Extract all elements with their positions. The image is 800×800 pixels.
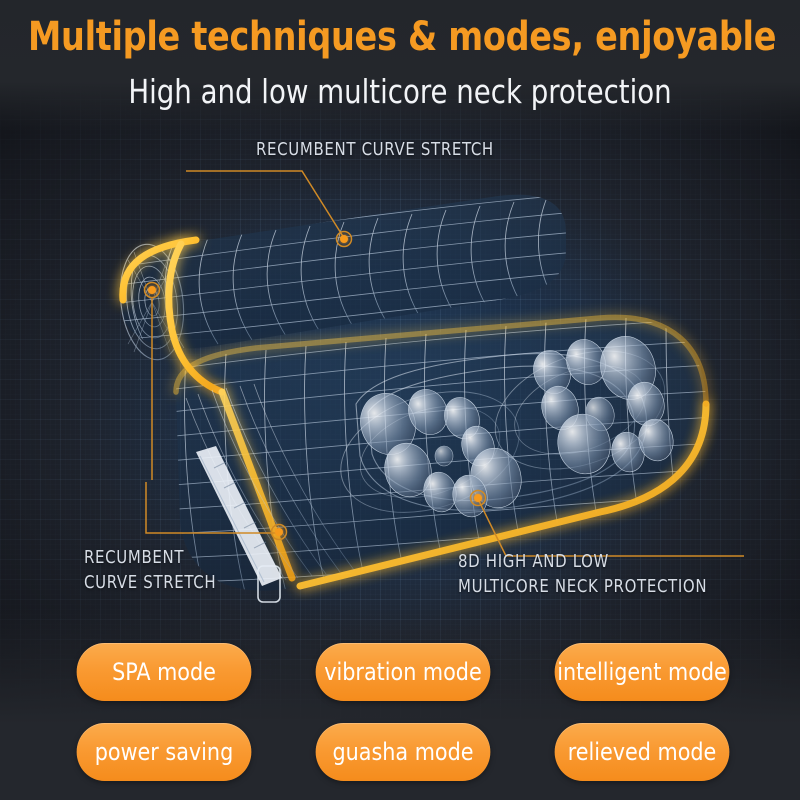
callout-label-left: RECUMBENT CURVE STRETCH — [84, 546, 216, 596]
callout-label-right: 8D HIGH AND LOW MULTICORE NECK PROTECTIO… — [458, 550, 707, 600]
callout-top-line1: RECUMBENT CURVE STRETCH — [256, 138, 494, 163]
mode-pill-power-saving[interactable]: power saving — [77, 723, 252, 781]
product-infographic-poster: Multiple techniques & modes, enjoyable H… — [0, 0, 800, 800]
callout-right-line1: 8D HIGH AND LOW — [458, 550, 707, 575]
mode-pill-vibration[interactable]: vibration mode — [316, 643, 491, 701]
mode-pill-row-1: SPA mode vibration mode intelligent mode — [73, 643, 733, 701]
mode-pill-intelligent[interactable]: intelligent mode — [555, 643, 730, 701]
mode-pill-relieved[interactable]: relieved mode — [555, 723, 730, 781]
poster-title: Multiple techniques & modes, enjoyable — [28, 14, 772, 60]
mode-pill-row-2: power saving guasha mode relieved mode — [73, 723, 733, 781]
callout-left-line2: CURVE STRETCH — [84, 571, 216, 596]
callout-right-line2: MULTICORE NECK PROTECTION — [458, 575, 707, 600]
callout-label-top: RECUMBENT CURVE STRETCH — [256, 138, 494, 163]
poster-subtitle: High and low multicore neck protection — [28, 72, 772, 111]
mode-pill-spa[interactable]: SPA mode — [77, 643, 252, 701]
mode-pill-guasha[interactable]: guasha mode — [316, 723, 491, 781]
callout-left-line1: RECUMBENT — [84, 546, 216, 571]
